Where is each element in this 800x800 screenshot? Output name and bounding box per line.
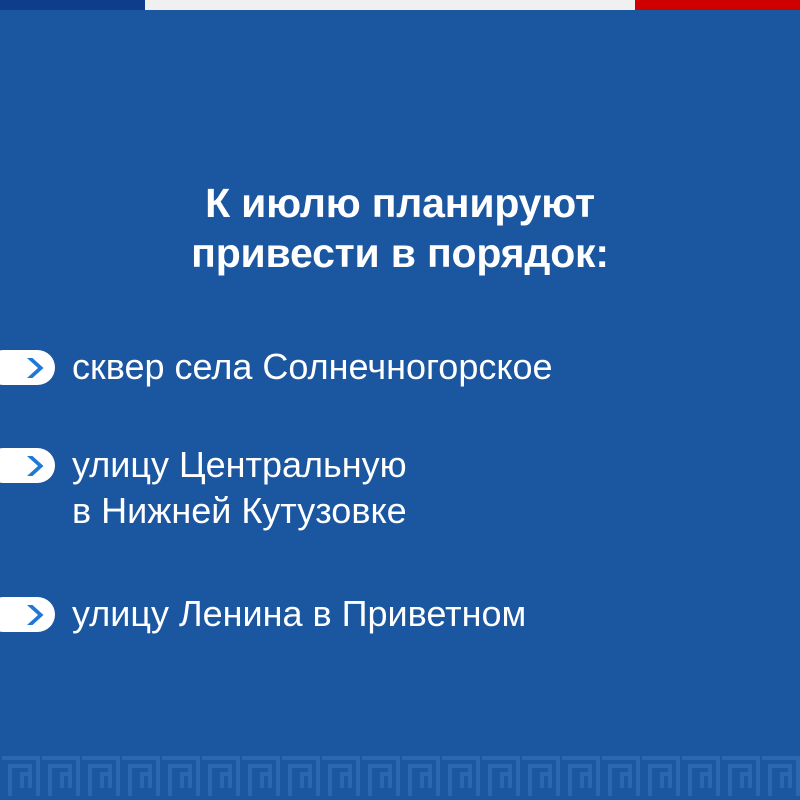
tricolor-red-segment: [635, 0, 800, 10]
chevron-right-icon: [0, 448, 55, 483]
page-title-line-1: К июлю планируют: [0, 178, 800, 228]
list-item: улицу Центральную в Нижней Кутузовке: [0, 442, 800, 534]
list-item-line-2: в Нижней Кутузовке: [72, 488, 780, 534]
tricolor-blue-segment: [0, 0, 145, 10]
chevron-right-icon: [0, 597, 55, 632]
russian-tricolor-strip: [0, 0, 800, 10]
list-item-text: сквер села Солнечногорское: [0, 344, 800, 390]
list-item-line-1: улицу Центральную: [72, 442, 780, 488]
list-item: улицу Ленина в Приветном: [0, 591, 800, 637]
list-item: сквер села Солнечногорское: [0, 344, 800, 390]
page-title: К июлю планируют привести в порядок:: [0, 178, 800, 278]
list-item-line-1: сквер села Солнечногорское: [72, 344, 780, 390]
page-title-line-2: привести в порядок:: [0, 228, 800, 278]
list-item-text: улицу Центральную в Нижней Кутузовке: [0, 442, 800, 534]
tricolor-white-segment: [145, 0, 635, 10]
poster-canvas: К июлю планируют привести в порядок: скв…: [0, 0, 800, 800]
objects-list: сквер села Солнечногорское улицу Централ…: [0, 340, 800, 637]
list-item-text: улицу Ленина в Приветном: [0, 591, 800, 637]
greek-key-border: [0, 752, 800, 800]
chevron-right-icon: [0, 350, 55, 385]
list-item-line-1: улицу Ленина в Приветном: [72, 591, 780, 637]
